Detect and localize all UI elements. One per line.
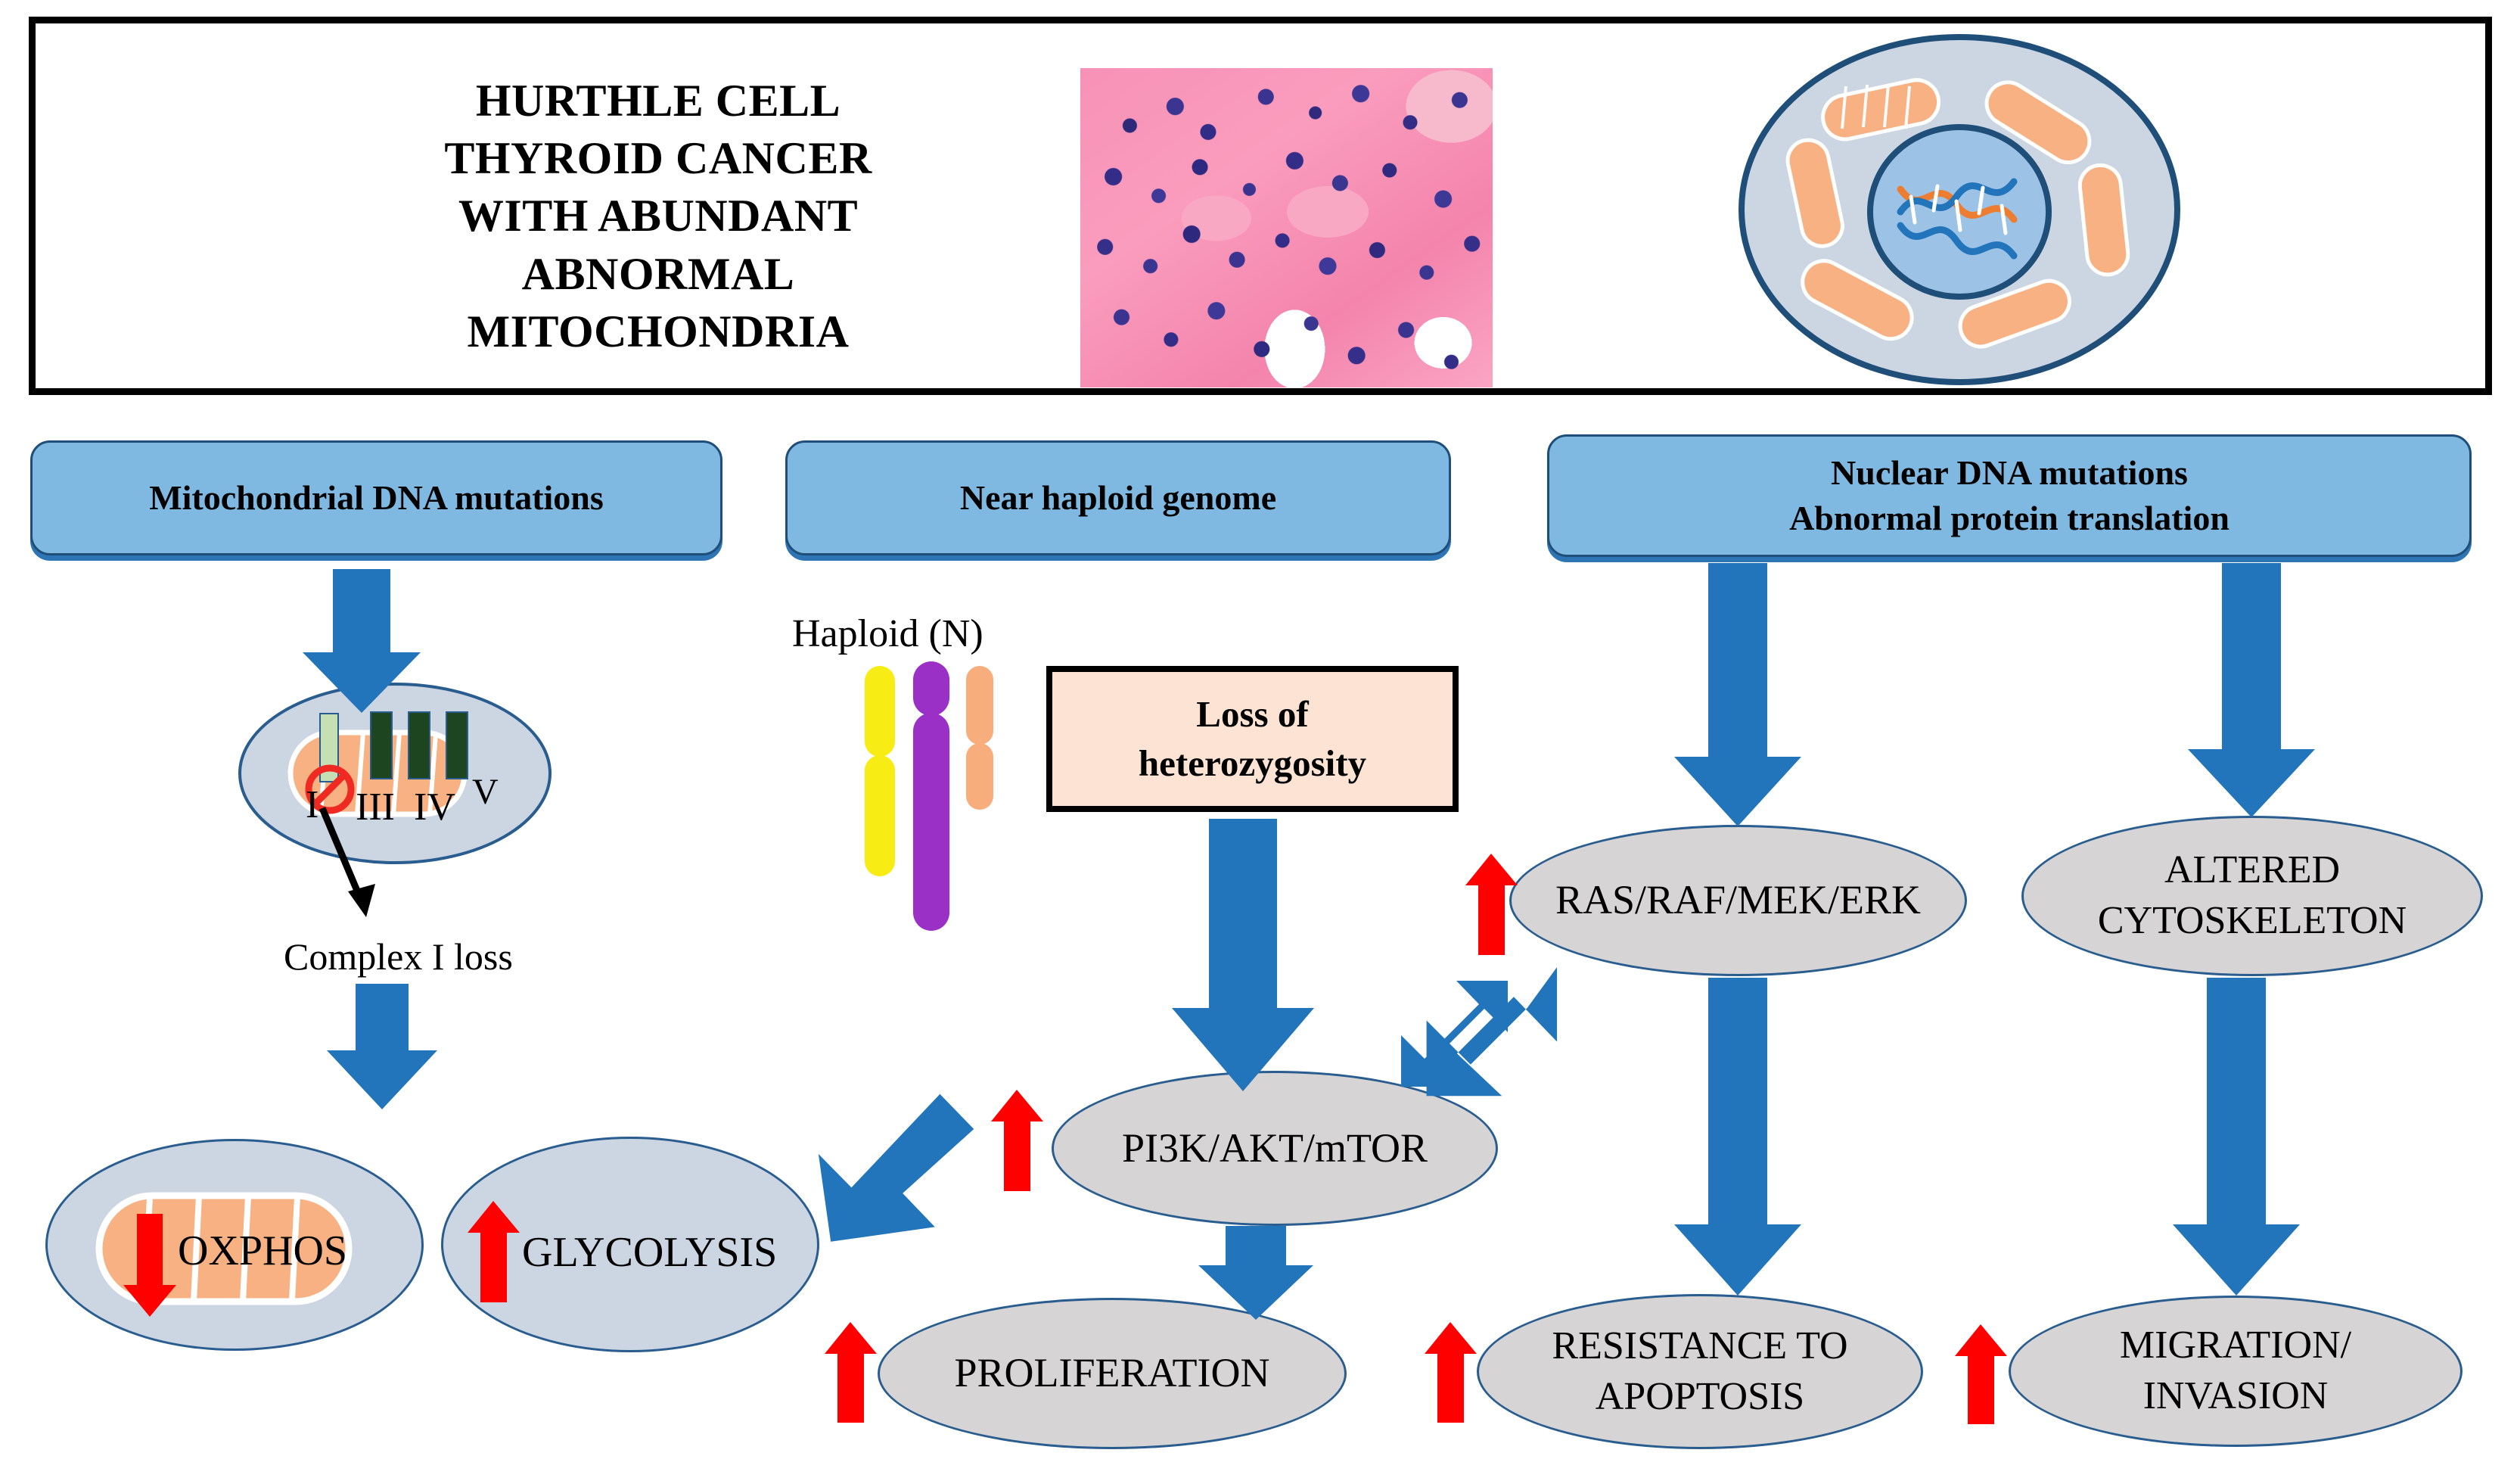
svg-text:IV: IV — [414, 785, 455, 829]
up-trend-arrow-proliferation-icon — [825, 1322, 877, 1423]
pathway-node-pi3k-akt-mtor[interactable]: PI3K/AKT/mTOR — [1052, 1071, 1498, 1226]
up-trend-arrow-icon — [468, 1201, 520, 1302]
complex-i-loss-label: Complex I loss — [284, 935, 513, 978]
svg-text:V: V — [472, 772, 499, 812]
chromosome-purple — [913, 661, 949, 931]
loss-of-heterozygosity-box[interactable]: Loss of heterozygosity — [1046, 666, 1459, 812]
arrow-pi3k-to-glycolysis — [813, 1090, 987, 1242]
cell-with-mitochondria-illustration — [1732, 32, 2186, 387]
arrow-nuclear-to-cytoskeleton — [2188, 563, 2315, 817]
pathway-node-altered-cytoskeleton[interactable]: ALTERED CYTOSKELETON — [2021, 816, 2483, 976]
arrow-ras-to-resistance — [1674, 978, 1801, 1296]
oxphos-mitochondrion-graphic: OXPHOS — [48, 1141, 426, 1353]
pathway-node-migration-invasion[interactable]: MIGRATION/ INVASION — [2009, 1296, 2463, 1447]
arrow-pi3k-ras-bidirectional — [1401, 967, 1557, 1096]
figure-canvas: HURTHLE CELL THYROID CANCER WITH ABUNDAN… — [0, 0, 2520, 1459]
chromosome-yellow — [865, 666, 895, 876]
oxphos-label: OXPHOS — [178, 1227, 347, 1274]
stage-box-near-haploid-genome[interactable]: Near haploid genome — [785, 440, 1451, 555]
glycolysis-cell-circle: GLYCOLYSIS — [441, 1137, 819, 1352]
svg-text:III: III — [356, 785, 395, 829]
up-trend-arrow-pi3k-icon — [991, 1090, 1043, 1191]
chromosome-orange — [966, 666, 993, 810]
stage-box-nuclear-dna-mutations[interactable]: Nuclear DNA mutations Abnormal protein t… — [1547, 434, 2472, 557]
page-title: HURTHLE CELL THYROID CANCER WITH ABUNDAN… — [325, 72, 991, 360]
glycolysis-label: GLYCOLYSIS — [522, 1229, 777, 1276]
arrow-nuclear-to-ras — [1674, 563, 1801, 826]
arrow-cytoskeleton-to-migration — [2173, 978, 2300, 1296]
pathway-node-ras-raf-mek-erk[interactable]: RAS/RAF/MEK/ERK — [1509, 825, 1967, 976]
pathway-node-resistance-to-apoptosis[interactable]: RESISTANCE TO APOPTOSIS — [1477, 1294, 1923, 1449]
pathway-node-proliferation[interactable]: PROLIFERATION — [878, 1298, 1347, 1449]
arrow-complex-loss-to-oxphos — [327, 984, 437, 1109]
stage-box-mitochondrial-dna-mutations[interactable]: Mitochondrial DNA mutations — [30, 440, 722, 555]
haploid-n-label: Haploid (N) — [792, 611, 983, 656]
haploid-chromosomes-illustration — [851, 660, 1040, 963]
up-trend-arrow-resistance-icon — [1425, 1322, 1477, 1423]
mitochondrion-respiratory-complexes: I III IV V — [236, 681, 554, 866]
glycolysis-graphic: GLYCOLYSIS — [443, 1139, 822, 1355]
arrow-loh-to-pi3k — [1172, 819, 1314, 1091]
hurthle-cell-histology-photo — [1080, 68, 1493, 387]
svg-text:I: I — [306, 783, 318, 826]
up-trend-arrow-migration-icon — [1955, 1324, 2007, 1424]
oxphos-cell-circle: OXPHOS — [45, 1139, 424, 1351]
